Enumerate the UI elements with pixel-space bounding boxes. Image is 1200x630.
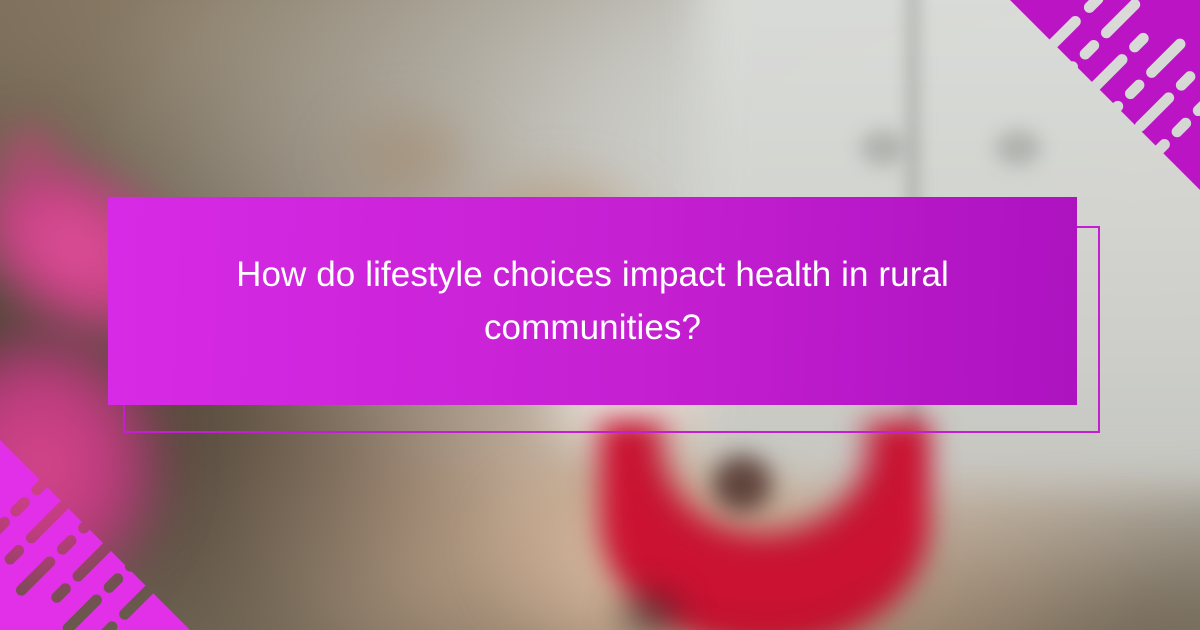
corner-decoration-top-right [1010,0,1200,190]
background-cabinet-knob [860,130,906,166]
corner-decoration-bottom-left [0,440,190,630]
background-dark-object [595,575,705,630]
headline-banner: How do lifestyle choices impact health i… [108,197,1077,405]
quote-card: How do lifestyle choices impact health i… [0,0,1200,630]
headline-text: How do lifestyle choices impact health i… [198,248,988,354]
background-red-garment-shadow [712,455,772,513]
